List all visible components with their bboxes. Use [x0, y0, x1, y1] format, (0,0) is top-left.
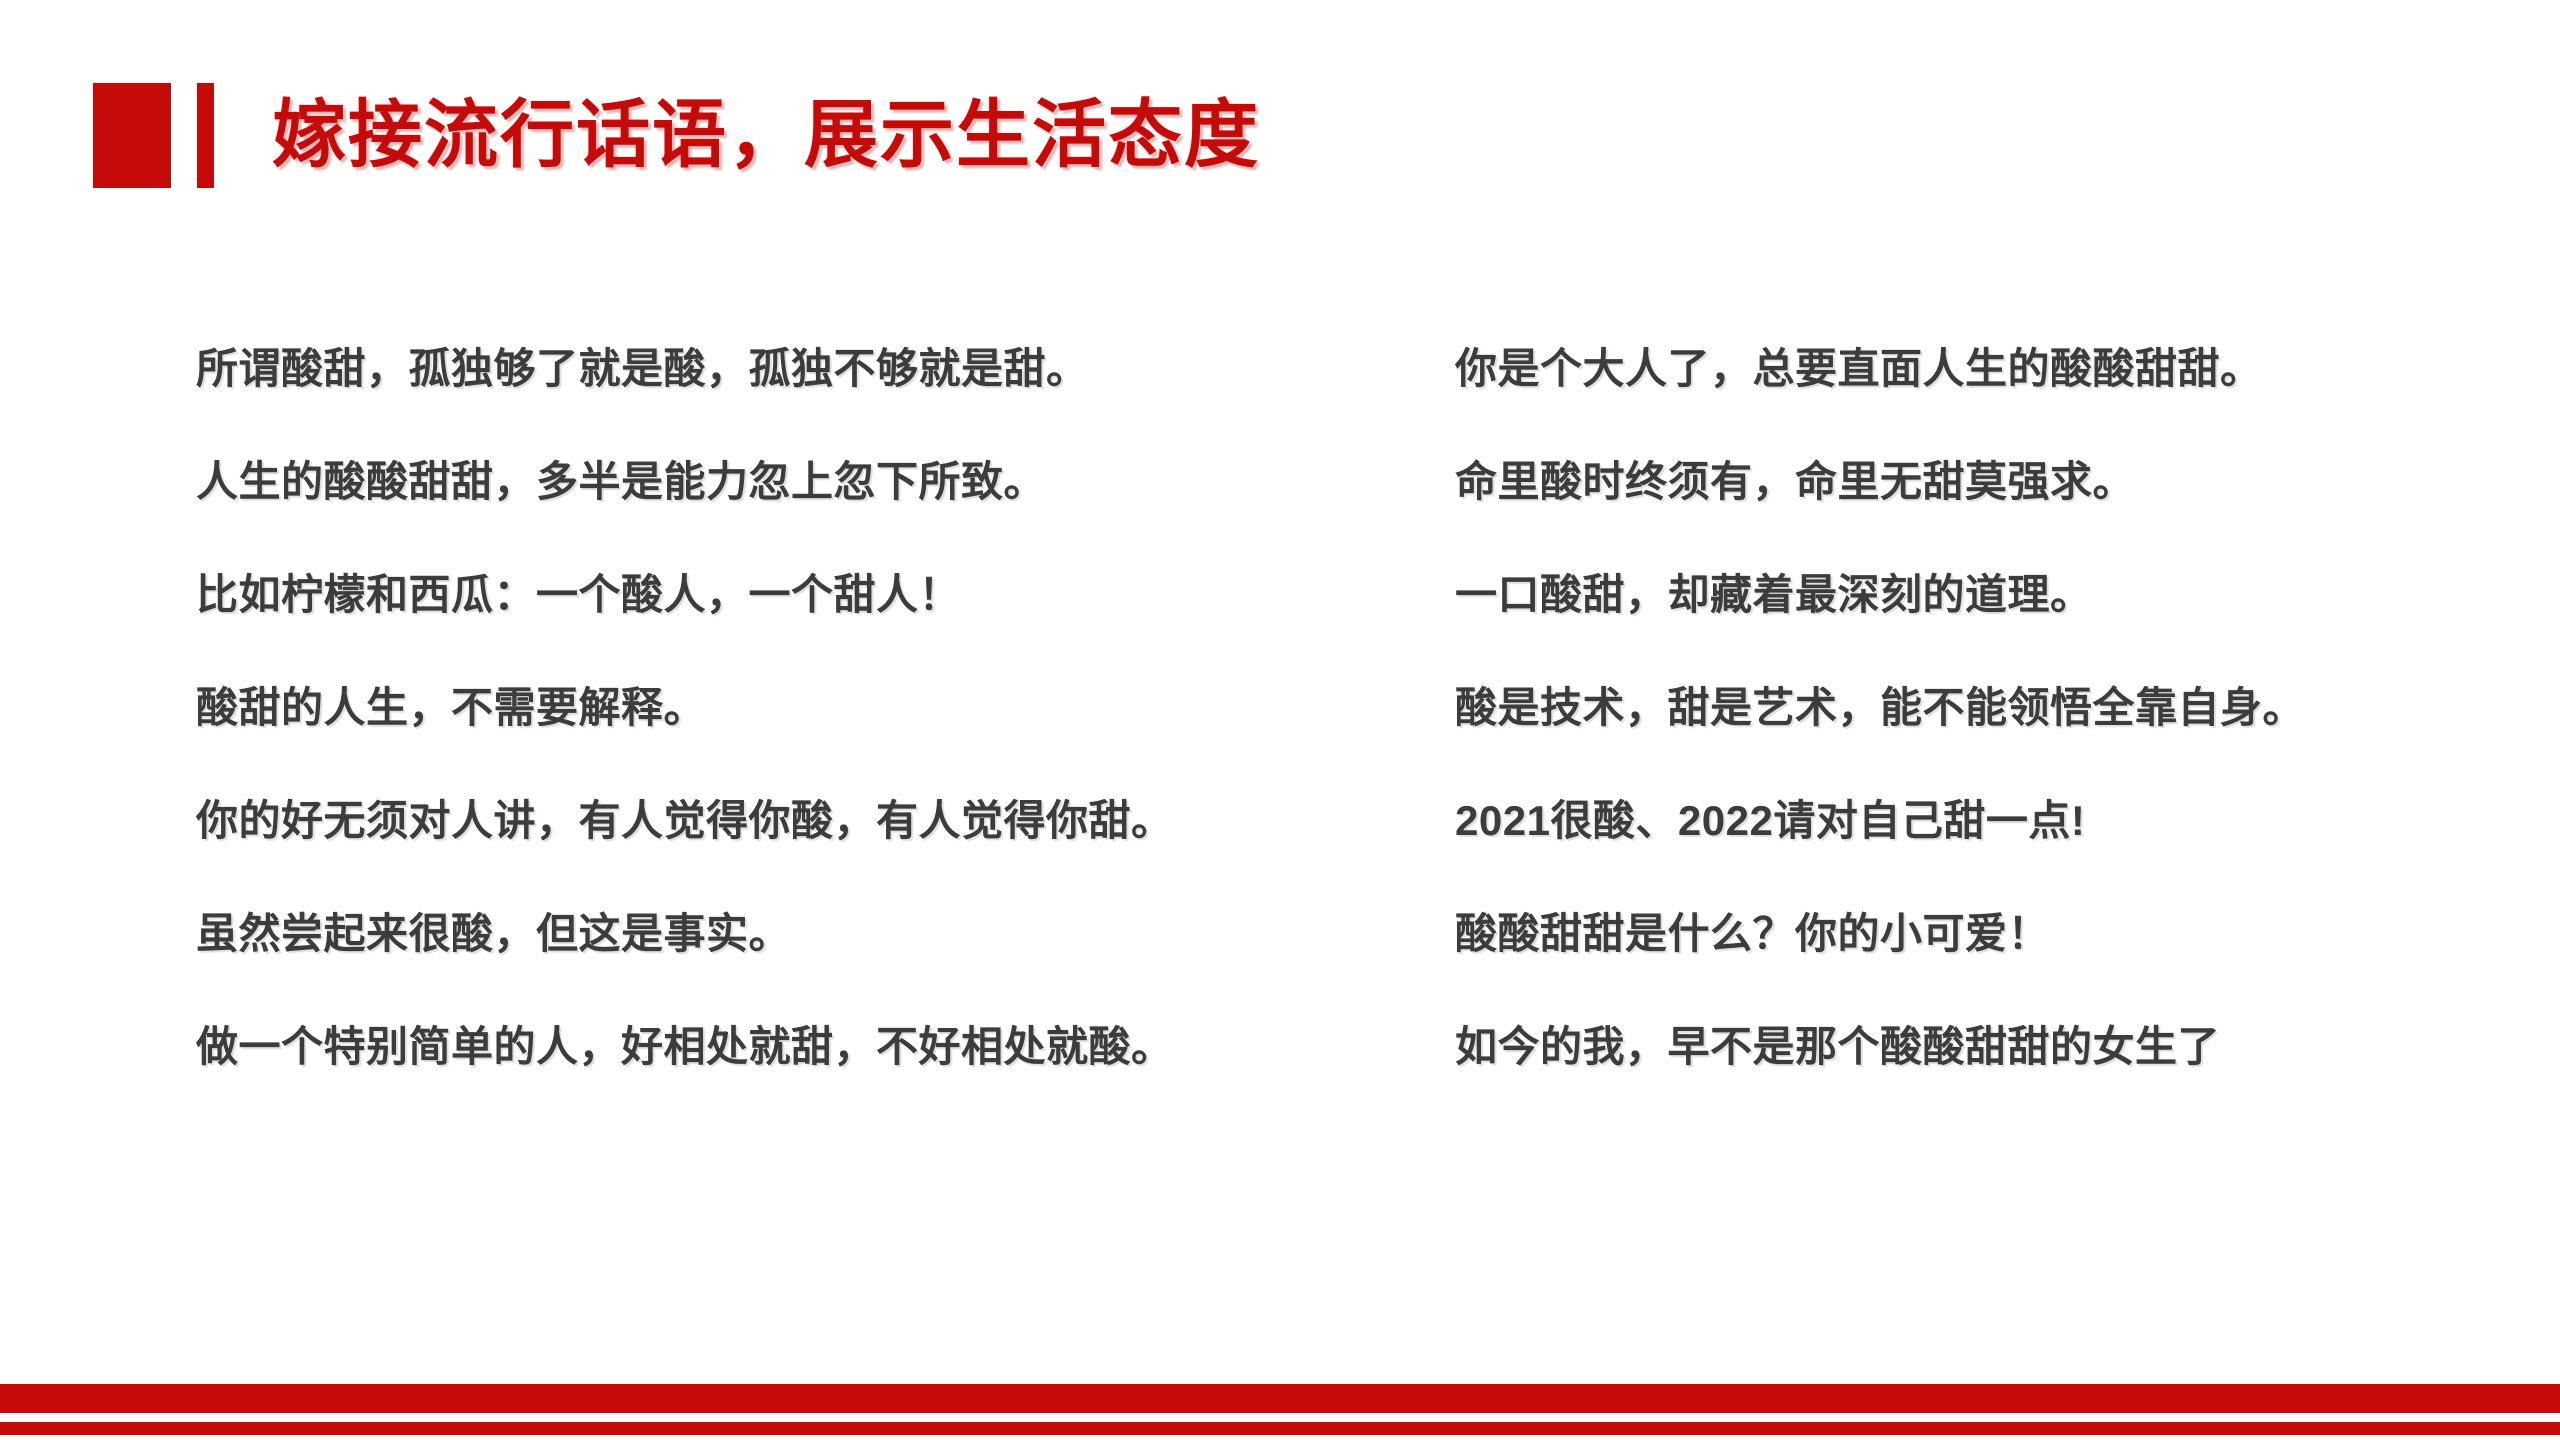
quote-line: 你是个大人了，总要直面人生的酸酸甜甜。 [1455, 348, 2535, 461]
quote-line: 2021很酸、2022请对自己甜一点! [1455, 800, 2535, 913]
quote-line: 一口酸甜，却藏着最深刻的道理。 [1455, 574, 2535, 687]
quote-line: 酸酸甜甜是什么？你的小可爱！ [1455, 913, 2535, 1026]
quote-line: 酸甜的人生，不需要解释。 [196, 687, 1376, 800]
title-accent-bar-icon [197, 83, 214, 188]
content-columns: 所谓酸甜，孤独够了就是酸，孤独不够就是甜。 人生的酸酸甜甜，多半是能力忽上忽下所… [0, 348, 2560, 1139]
quote-line: 命里酸时终须有，命里无甜莫强求。 [1455, 461, 2535, 574]
presentation-slide: 嫁接流行话语，展示生活态度 所谓酸甜，孤独够了就是酸，孤独不够就是甜。 人生的酸… [0, 0, 2560, 1440]
quote-line: 如今的我，早不是那个酸酸甜甜的女生了 [1455, 1026, 2535, 1139]
title-accent-square-icon [93, 83, 171, 188]
footer-accent-bar-thin [0, 1422, 2560, 1435]
quote-line: 你的好无须对人讲，有人觉得你酸，有人觉得你甜。 [196, 800, 1376, 913]
footer-accent-bar-thick [0, 1384, 2560, 1413]
quote-line: 酸是技术，甜是艺术，能不能领悟全靠自身。 [1455, 687, 2535, 800]
quote-column-left: 所谓酸甜，孤独够了就是酸，孤独不够就是甜。 人生的酸酸甜甜，多半是能力忽上忽下所… [196, 348, 1376, 1139]
quote-column-right: 你是个大人了，总要直面人生的酸酸甜甜。 命里酸时终须有，命里无甜莫强求。 一口酸… [1455, 348, 2535, 1139]
quote-line: 所谓酸甜，孤独够了就是酸，孤独不够就是甜。 [196, 348, 1376, 461]
quote-line: 虽然尝起来很酸，但这是事实。 [196, 913, 1376, 1026]
quote-line: 做一个特别简单的人，好相处就甜，不好相处就酸。 [196, 1026, 1376, 1139]
quote-line: 人生的酸酸甜甜，多半是能力忽上忽下所致。 [196, 461, 1376, 574]
page-title: 嫁接流行话语，展示生活态度 [272, 98, 1260, 172]
slide-title-row: 嫁接流行话语，展示生活态度 [0, 60, 2560, 210]
quote-line: 比如柠檬和西瓜：一个酸人，一个甜人！ [196, 574, 1376, 687]
